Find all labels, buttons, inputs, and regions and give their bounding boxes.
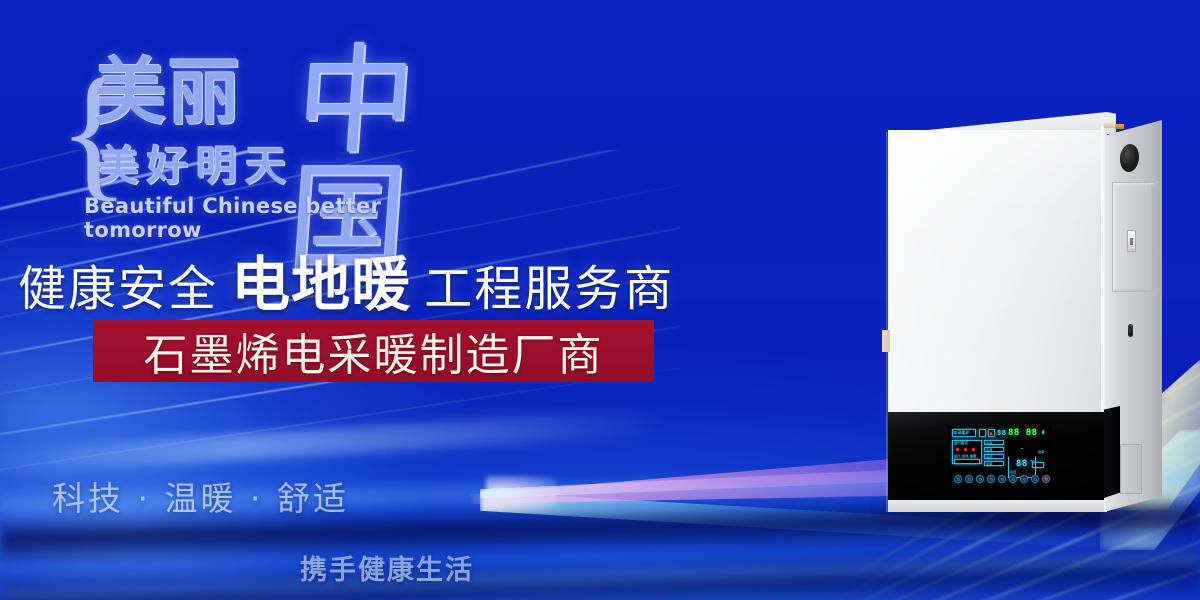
lcd-power-label: 功率 — [1038, 450, 1044, 454]
lcd-touch-button-6[interactable] — [1009, 475, 1017, 483]
lcd-icon-box-1 — [979, 429, 986, 437]
promotional-banner: { 美丽 中国 美好明天 Beautiful Chinese better to… — [0, 0, 1200, 600]
lcd-touch-button-ring — [1012, 478, 1015, 481]
lcd-touch-button-ring — [1023, 478, 1026, 481]
lcd-room-temperature: 88 — [1016, 459, 1028, 469]
lcd-antenna-icon: ⇞ — [1041, 428, 1046, 436]
headline-part-a: 健康安全 — [18, 261, 218, 317]
lcd-touch-button-ring — [968, 478, 971, 481]
lcd-touch-button-3[interactable] — [976, 475, 984, 483]
bottom-slogan: 携手健康生活 — [300, 548, 474, 587]
lcd-display[interactable]: 电采暖炉▲8888 88···⇞运行模式运行定时故障水温室温设定功率88℃功率水… — [948, 426, 1052, 486]
lcd-touch-button-ring — [1034, 478, 1037, 481]
cable-slot — [1128, 324, 1133, 337]
feature-tagline: 科技 · 温暖 · 舒适 — [52, 472, 349, 520]
headline-part-c: 工程服务商 — [424, 261, 674, 317]
lcd-param-label-3: 设定 — [986, 455, 992, 459]
lcd-touch-button-5[interactable] — [998, 475, 1006, 483]
red-banner-text: 石墨烯电采暖制造厂商 — [93, 320, 654, 382]
lcd-signal-dots: ··· — [1030, 430, 1034, 434]
logo-title-main: 美丽 — [94, 54, 242, 130]
logo-title-sub: 美好明天 — [98, 144, 294, 188]
red-banner: 石墨烯电采暖制造厂商 — [93, 320, 654, 382]
lcd-param-label-1: 水温 — [986, 441, 992, 445]
lcd-pressure-label: 水压 — [1010, 470, 1016, 474]
lcd-fault-indicator: ▲ — [989, 429, 994, 437]
lcd-touch-button-ring — [1001, 478, 1004, 481]
lcd-led-2 — [964, 448, 967, 451]
lcd-touch-button-ring — [990, 478, 993, 481]
lcd-touch-button-2[interactable] — [965, 475, 973, 483]
product-top-chip-orange — [1115, 124, 1124, 129]
logo-english-tagline: Beautiful Chinese better tomorrow — [84, 194, 488, 242]
lcd-mode-label: 运行模式 — [954, 441, 968, 445]
lcd-led-3 — [972, 448, 975, 451]
lcd-touch-button-ring — [979, 478, 982, 481]
lcd-touch-button-8[interactable] — [1031, 475, 1039, 483]
lcd-touch-button-1[interactable] — [954, 475, 962, 483]
lcd-mode-sublabel-3: 故障 — [970, 454, 976, 458]
lcd-touch-button-ring — [957, 478, 960, 481]
lcd-touch-button-row — [954, 475, 1050, 485]
product-electric-boiler: 电采暖炉▲8888 88···⇞运行模式运行定时故障水温室温设定功率88℃功率水… — [872, 112, 1172, 512]
logo-title-accent: 中国 — [285, 42, 497, 278]
lcd-touch-button-7[interactable] — [1020, 475, 1028, 483]
product-bottom-strip — [888, 500, 1104, 512]
lcd-small-digits: 88 — [997, 429, 1006, 437]
lcd-touch-button-9[interactable] — [1042, 475, 1050, 483]
lcd-param-label-2: 室温 — [986, 448, 992, 452]
lcd-touch-button-ring — [1045, 478, 1048, 481]
lcd-header-label: 电采暖炉 — [953, 431, 970, 435]
lower-side-cutout — [1120, 444, 1142, 494]
headline: 健康安全 电地暖 工程服务商 — [18, 256, 674, 318]
lcd-mode-sublabel-2: 定时 — [962, 454, 968, 458]
lcd-mode-sublabel-1: 运行 — [954, 454, 960, 458]
power-switch-indicator — [1130, 238, 1133, 245]
lcd-led-1 — [956, 448, 959, 451]
product-top-chip-beige — [1104, 123, 1114, 128]
brand-logo: { 美丽 中国 美好明天 Beautiful Chinese better to… — [58, 52, 488, 227]
lcd-param-label-4: 功率 — [986, 462, 992, 466]
lcd-touch-button-4[interactable] — [987, 475, 995, 483]
lcd-mode-bar — [954, 459, 980, 464]
product-left-tab — [882, 330, 890, 352]
control-panel-side — [1104, 406, 1120, 498]
lcd-status-box — [1032, 462, 1044, 468]
headline-part-b: 电地暖 — [231, 250, 411, 319]
